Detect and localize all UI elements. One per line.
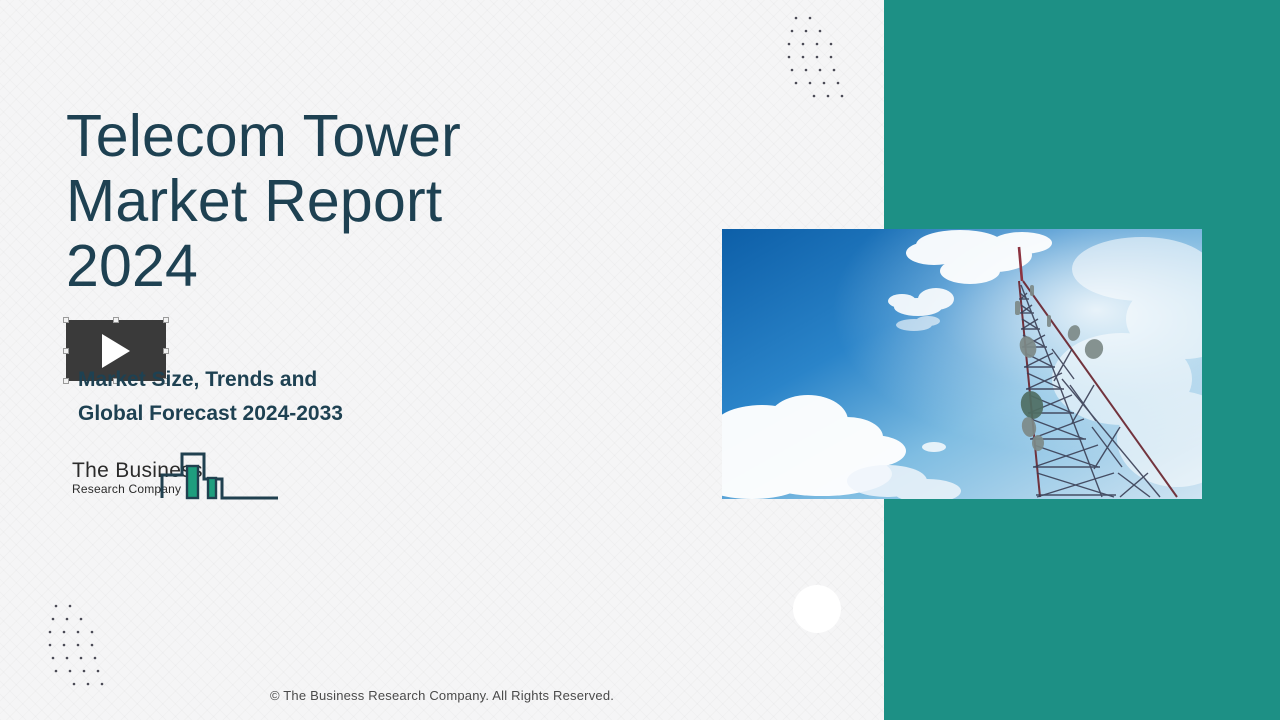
dot-grid-icon-bottom-left bbox=[48, 600, 122, 692]
resize-handle-top-center[interactable] bbox=[113, 317, 119, 323]
resize-handle-top-left[interactable] bbox=[63, 317, 69, 323]
footer-copyright: © The Business Research Company. All Rig… bbox=[0, 688, 884, 703]
slide-subtitle: Market Size, Trends and Global Forecast … bbox=[78, 363, 638, 431]
white-circle-icon bbox=[793, 585, 841, 633]
resize-handle-bottom-left[interactable] bbox=[63, 378, 69, 384]
company-logo: The Business Research Company bbox=[68, 448, 280, 510]
resize-handle-middle-right[interactable] bbox=[163, 348, 169, 354]
telecom-tower-photo bbox=[722, 229, 1202, 499]
slide-title: Telecom Tower Market Report 2024 bbox=[66, 104, 706, 299]
bar-chart-logo-icon bbox=[160, 448, 280, 506]
resize-handle-top-right[interactable] bbox=[163, 317, 169, 323]
resize-handle-middle-left[interactable] bbox=[63, 348, 69, 354]
presentation-slide: Telecom Tower Market Report 2024 Market … bbox=[0, 0, 1280, 720]
dot-grid-icon-top-right bbox=[786, 14, 860, 104]
